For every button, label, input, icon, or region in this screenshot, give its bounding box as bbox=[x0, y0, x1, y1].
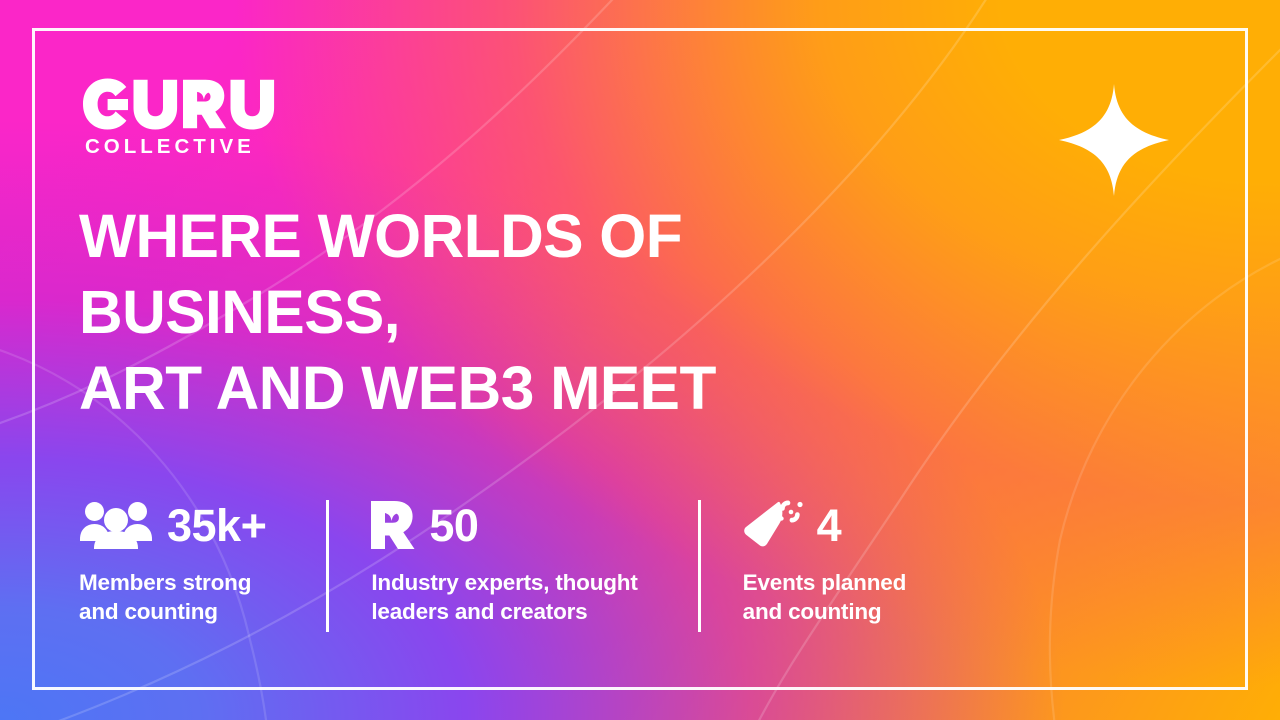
four-point-star-icon bbox=[1059, 84, 1169, 196]
brand-subtitle: COLLECTIVE bbox=[85, 137, 292, 158]
stat-experts-top: 50 bbox=[371, 496, 637, 554]
headline-line-2: BUSINESS, bbox=[79, 274, 970, 350]
stat-experts: 50 Industry experts, thought leaders and… bbox=[371, 496, 659, 626]
stat-events-label: Events planned and counting bbox=[743, 568, 907, 626]
stat-events-top: 4 bbox=[743, 496, 907, 554]
promo-banner: COLLECTIVE WHERE WORLDS OF BUSINESS, ART… bbox=[0, 0, 1280, 720]
party-popper-icon bbox=[743, 499, 803, 551]
users-group-icon bbox=[79, 501, 153, 549]
stat-members: 35k+ Members strong and counting bbox=[79, 496, 288, 626]
stat-members-value: 35k+ bbox=[167, 503, 266, 548]
stats-row: 35k+ Members strong and counting 50 bbox=[79, 496, 1189, 636]
headline-line-1: WHERE WORLDS OF bbox=[79, 198, 970, 274]
headline: WHERE WORLDS OF BUSINESS, ART AND WEB3 M… bbox=[79, 198, 970, 426]
stat-experts-label: Industry experts, thought leaders and cr… bbox=[371, 568, 637, 626]
guru-r-sparkle-mark-icon bbox=[371, 500, 415, 550]
stat-experts-value: 50 bbox=[429, 503, 478, 548]
stat-members-top: 35k+ bbox=[79, 496, 266, 554]
stats-divider-2 bbox=[698, 500, 701, 632]
stat-events-value: 4 bbox=[817, 503, 842, 548]
brand-logo: COLLECTIVE bbox=[82, 78, 292, 158]
guru-wordmark-icon bbox=[82, 78, 282, 130]
stat-events: 4 Events planned and counting bbox=[743, 496, 929, 626]
stat-members-label: Members strong and counting bbox=[79, 568, 266, 626]
stats-divider-1 bbox=[326, 500, 329, 632]
headline-line-3: ART AND WEB3 MEET bbox=[79, 350, 970, 426]
